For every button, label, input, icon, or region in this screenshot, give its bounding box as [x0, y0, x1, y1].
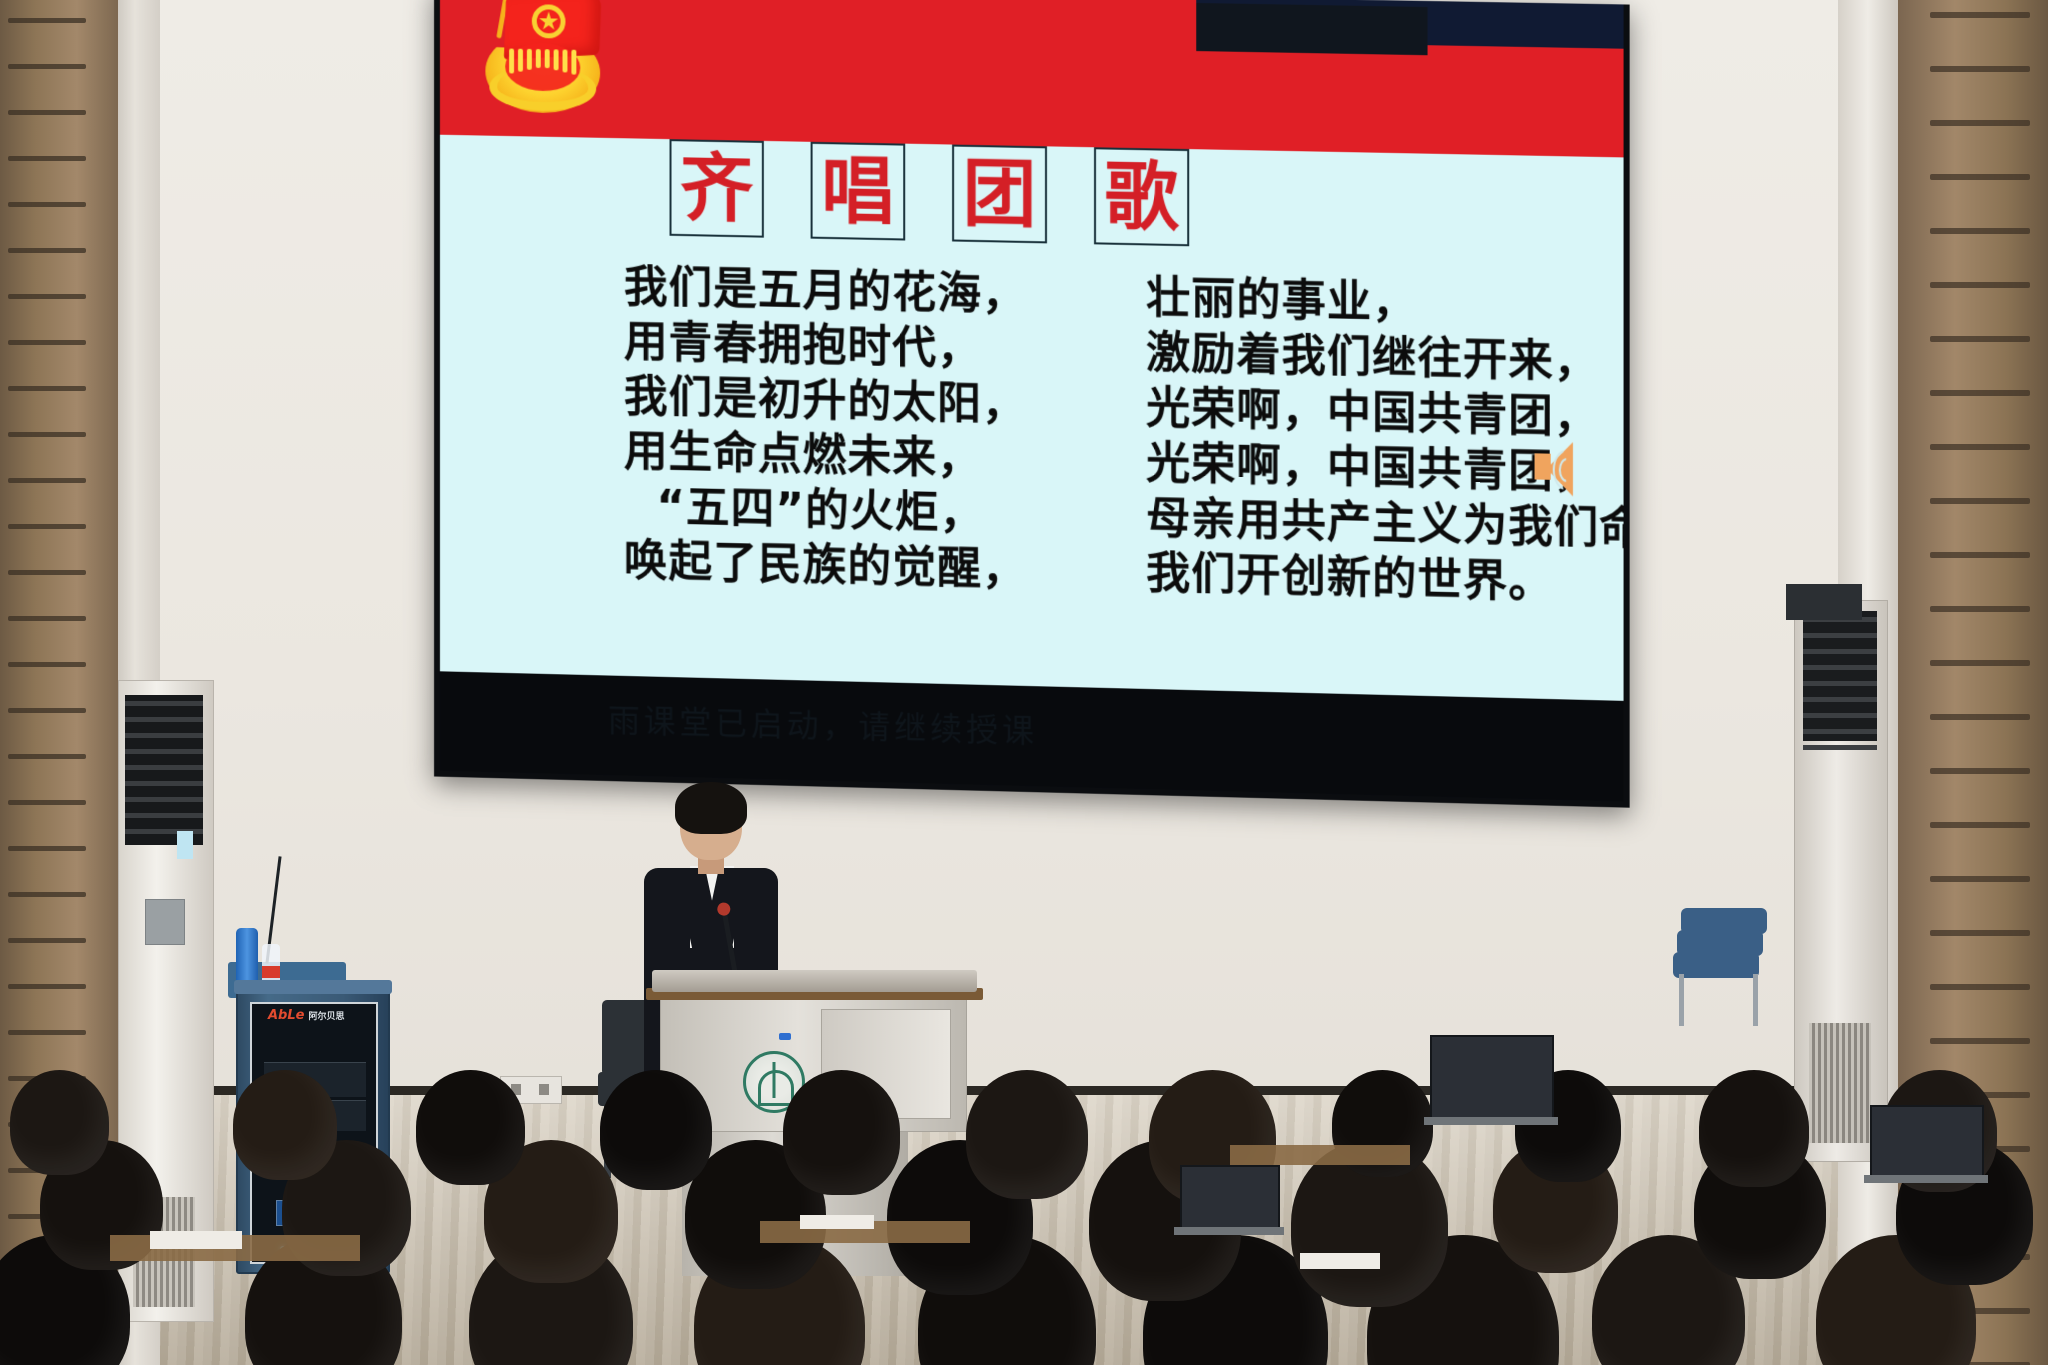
- slide-title: 齐唱团歌: [670, 139, 1190, 246]
- title-char: 团: [963, 156, 1037, 231]
- lyric-line: 我们开创新的世界。: [1146, 546, 1623, 615]
- ac-left-vent: [133, 1197, 195, 1307]
- podium-base: [682, 1128, 908, 1276]
- projector-dark-patch: [1196, 3, 1427, 55]
- lyric-line: 我们是五月的花海，: [624, 260, 1027, 323]
- presentation-slide: 齐唱团歌 我们是五月的花海，用青春拥抱时代，我们是初升的太阳，用生命点燃未来， …: [440, 0, 1624, 701]
- floor-shading: [160, 1095, 1838, 1365]
- ac-right-vent: [1809, 1023, 1871, 1143]
- ac-right-grille: [1803, 611, 1877, 741]
- podium-indicator-light: [779, 1033, 791, 1040]
- title-char-box-1: 齐: [670, 139, 764, 238]
- lyric-line: 用青春拥抱时代，: [624, 314, 1027, 377]
- title-char: 齐: [680, 151, 753, 226]
- wall-outlet[interactable]: [500, 1076, 562, 1104]
- title-char-box-3: 团: [952, 145, 1047, 244]
- right-wall-panel: [1786, 584, 1862, 620]
- air-conditioner-right: [1794, 600, 1888, 1162]
- rack-unit-1: [264, 1062, 366, 1097]
- rack-top: [234, 980, 392, 994]
- projection-screen: 齐唱团歌 我们是五月的花海，用青春拥抱时代，我们是初升的太阳，用生命点燃未来， …: [434, 0, 1630, 808]
- title-char-box-4: 歌: [1094, 147, 1189, 246]
- ac-left-grille: [125, 695, 203, 845]
- title-char: 唱: [821, 154, 895, 229]
- lyric-line: “五四”的火炬，: [624, 479, 1027, 543]
- av-equipment-rack: AbLe阿尔贝思: [236, 990, 390, 1274]
- rack-door-handle[interactable]: [240, 1110, 249, 1158]
- rack-brand-sub: 阿尔贝思: [308, 1012, 344, 1022]
- podium-top-surface: [652, 970, 977, 992]
- communist-youth-league-emblem: [476, 0, 611, 118]
- lyrics-column-left: 我们是五月的花海，用青春拥抱时代，我们是初升的太阳，用生命点燃未来， “五四”的…: [624, 260, 1027, 598]
- title-char-box-2: 唱: [811, 142, 906, 241]
- rack-brand-name: AbLe: [268, 1008, 304, 1023]
- screenshot-root: 齐唱团歌 我们是五月的花海，用青春拥抱时代，我们是初升的太阳，用生命点燃未来， …: [0, 0, 2048, 1365]
- right-wood-slat-wall: [1898, 0, 2048, 1365]
- ac-left-sticker: [177, 831, 193, 859]
- podium-front-panel: [660, 998, 967, 1132]
- presenter-hair: [675, 782, 747, 834]
- rack-keypad[interactable]: [306, 1200, 352, 1228]
- ac-left-control-panel[interactable]: [145, 899, 185, 945]
- air-conditioner-left: [118, 680, 214, 1322]
- lyric-line: 用生命点燃未来，: [624, 424, 1027, 488]
- left-wall-slats: [0, 0, 118, 1365]
- university-seal-emblem: [743, 1051, 805, 1113]
- lyric-line: 唤起了民族的觉醒，: [624, 534, 1027, 598]
- audio-speaker-icon[interactable]: [1528, 439, 1587, 497]
- title-char: 歌: [1105, 159, 1179, 235]
- rack-unit-2: [264, 1100, 366, 1131]
- rack-unit-3: [264, 1148, 366, 1179]
- stacked-stools: [1673, 900, 1793, 1030]
- rack-glass-door[interactable]: AbLe阿尔贝思: [250, 1002, 378, 1264]
- rain-classroom-toast: 雨课堂已启动，请继续授课: [608, 695, 1038, 752]
- podium-side-panel: [821, 1009, 951, 1119]
- lectern-podium: [660, 970, 965, 1280]
- rack-brand-label: AbLe阿尔贝思: [268, 1008, 344, 1023]
- lyric-line: 我们是初升的太阳，: [624, 369, 1027, 433]
- projection-screen-inner: 齐唱团歌 我们是五月的花海，用青春拥抱时代，我们是初升的太阳，用生命点燃未来， …: [440, 0, 1624, 802]
